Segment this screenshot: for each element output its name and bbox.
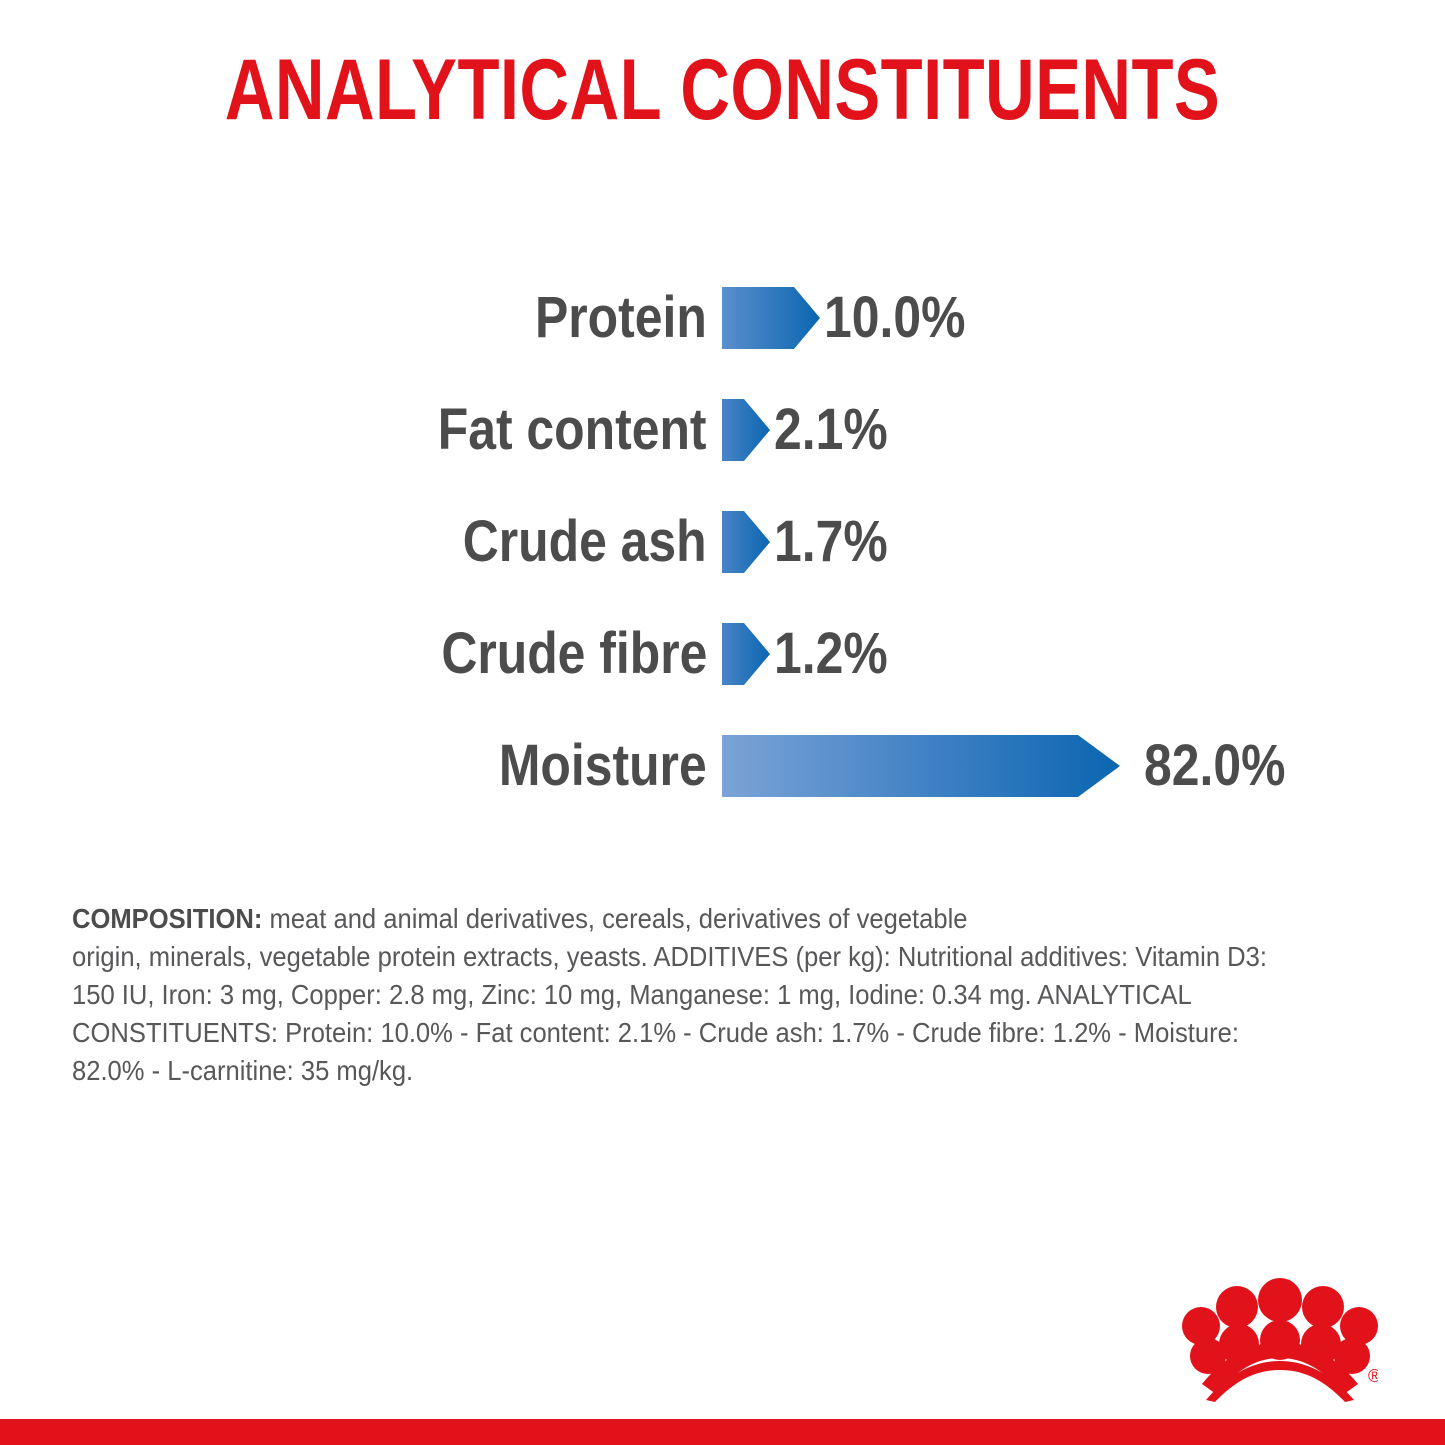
constituent-row-fat-content: Fat content 2.1% — [0, 374, 1445, 486]
constituent-label: Moisture — [499, 735, 707, 797]
constituent-row-crude-ash: Crude ash 1.7% — [0, 486, 1445, 598]
constituent-bar-protein — [722, 287, 820, 349]
arrow-bar-icon — [722, 511, 770, 573]
constituent-label: Fat content — [438, 399, 707, 461]
registered-trademark-symbol: ® — [1368, 1366, 1378, 1386]
page-title: ANALYTICAL CONSTITUENTS — [145, 42, 1301, 138]
constituent-row-crude-fibre: Crude fibre 1.2% — [0, 598, 1445, 710]
bottom-red-bar — [0, 1419, 1445, 1445]
composition-body: origin, minerals, vegetable protein extr… — [72, 938, 1276, 1090]
arrow-bar-icon — [722, 399, 770, 461]
constituent-bar-crude-ash — [722, 511, 770, 573]
arrow-bar-icon — [722, 735, 1120, 797]
constituent-value: 1.7% — [774, 511, 888, 573]
composition-lead-label: COMPOSITION: — [72, 903, 262, 934]
constituent-value: 10.0% — [824, 287, 965, 349]
constituent-bar-moisture — [722, 735, 1120, 797]
constituent-bar-crude-fibre — [722, 623, 770, 685]
constituent-row-moisture: Moisture 82.0% — [0, 710, 1445, 822]
arrow-bar-icon — [722, 287, 820, 349]
composition-line1: meat and animal derivatives, cereals, de… — [262, 903, 967, 934]
composition-paragraph: COMPOSITION: meat and animal derivatives… — [72, 900, 1276, 1090]
constituents-list: Protein 10.0% Fat content — [0, 262, 1445, 822]
constituent-row-protein: Protein 10.0% — [0, 262, 1445, 374]
arrow-bar-icon — [722, 623, 770, 685]
constituent-value: 1.2% — [774, 623, 888, 685]
page-root: ANALYTICAL CONSTITUENTS Protein 10.0% — [0, 0, 1445, 1445]
royal-canin-crown-logo: ® — [1182, 1278, 1378, 1402]
constituent-label: Crude ash — [463, 511, 707, 573]
constituent-value: 82.0% — [1144, 735, 1285, 797]
constituent-label: Protein — [535, 287, 707, 349]
crown-icon: ® — [1182, 1278, 1378, 1402]
constituent-label: Crude fibre — [441, 623, 707, 685]
constituent-value: 2.1% — [774, 399, 888, 461]
constituent-bar-fat-content — [722, 399, 770, 461]
